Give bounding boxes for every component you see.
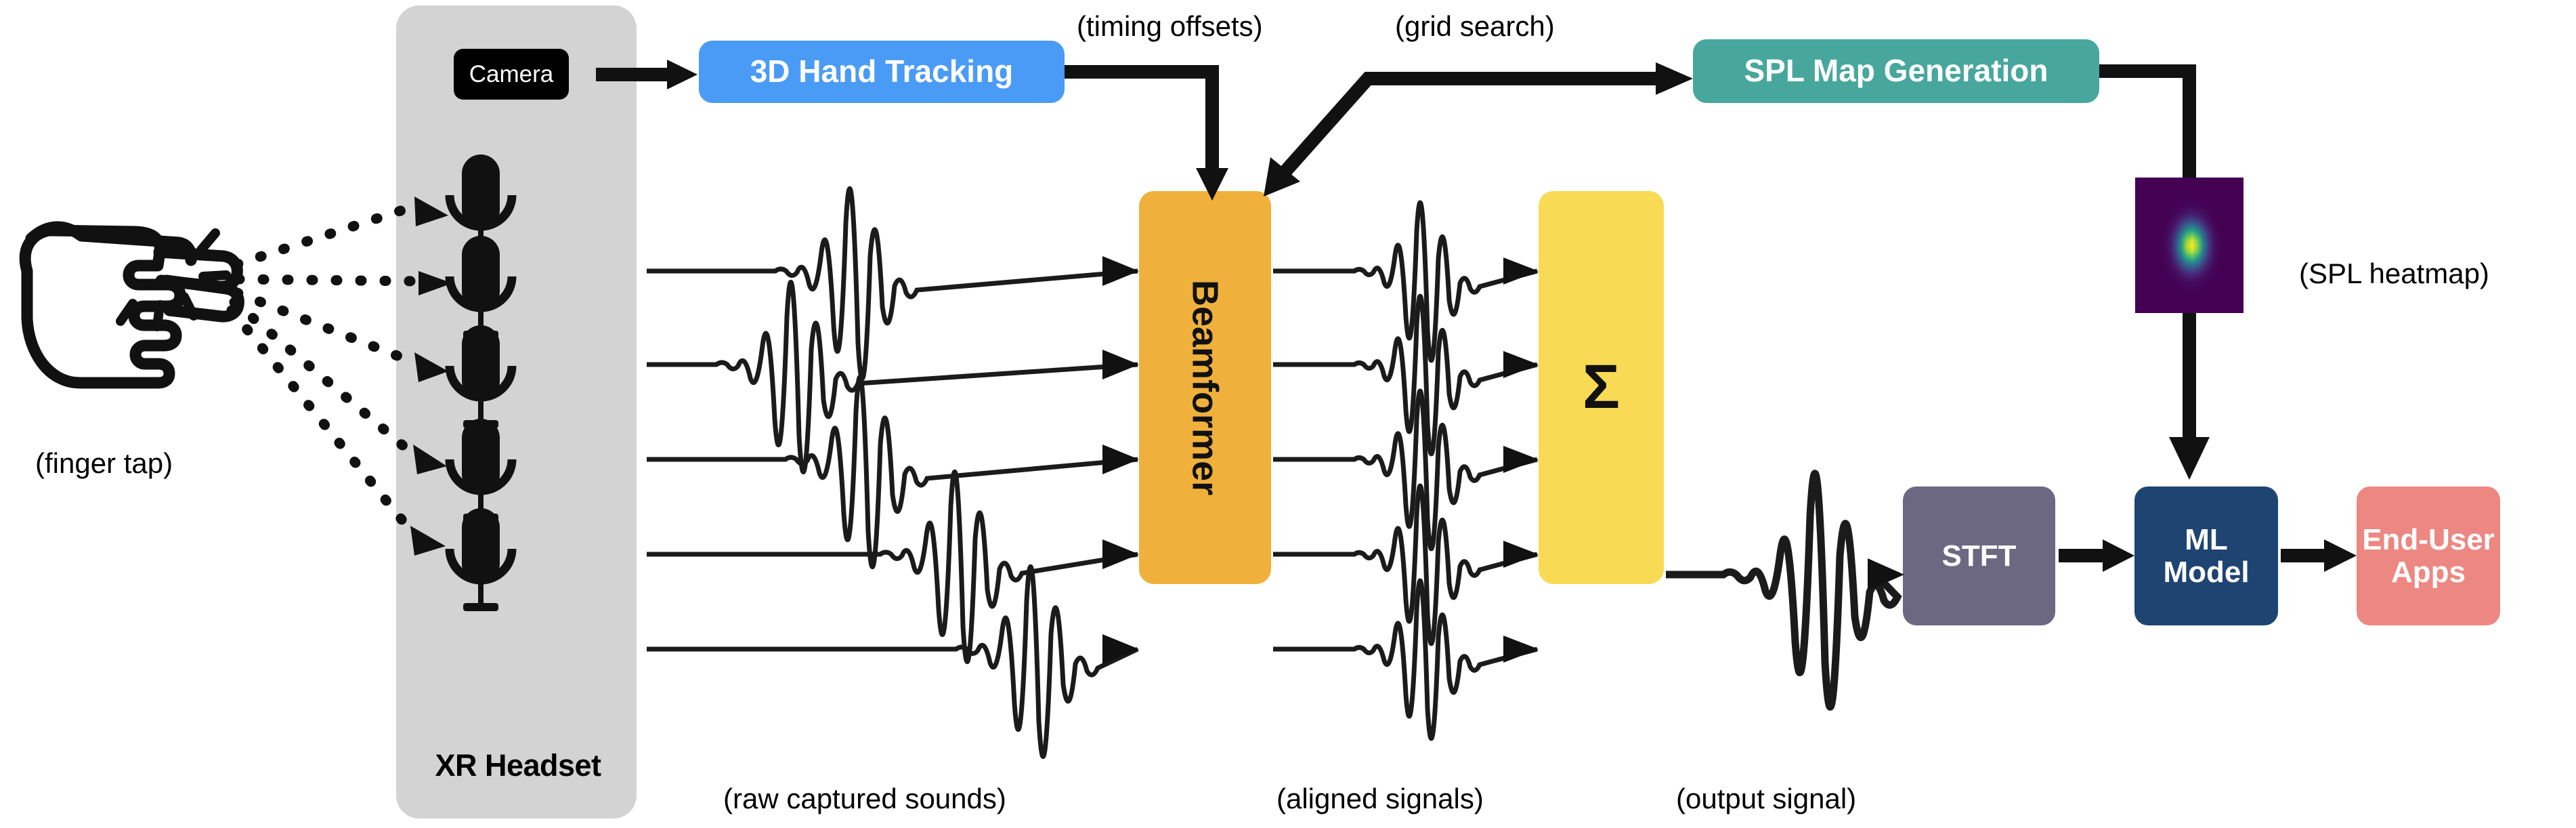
raw-signal-traces (647, 188, 1138, 756)
caption-timing-offsets: (timing offsets) (1077, 10, 1263, 43)
block-3d-hand-tracking[interactable]: 3D Hand Tracking (699, 41, 1065, 103)
arrow-ml-model-to-end-user-apps (2281, 539, 2357, 572)
block-3d-hand-tracking-label: 3D Hand Tracking (750, 55, 1014, 89)
caption-finger-tap: (finger tap) (35, 447, 173, 480)
block-end-user-apps[interactable]: End-User Apps (2357, 487, 2500, 625)
block-spl-map-generation-label: SPL Map Generation (1744, 54, 2048, 88)
block-stft[interactable]: STFT (1903, 487, 2055, 625)
aligned-signal-traces (1273, 203, 1537, 739)
block-ml-model-label-line2: Model (2163, 556, 2249, 589)
arrowhead-grid-search-into-beamformer (1264, 157, 1300, 196)
pointing-hand-icon (25, 227, 238, 383)
spl-heatmap-canvas (2135, 178, 2244, 313)
arrow-timing-offsets (1065, 72, 1212, 168)
caption-output-signal: (output signal) (1676, 783, 1856, 815)
block-beamformer-label: Beamformer (1185, 280, 1224, 495)
raw-signal-arrowheads (1102, 256, 1139, 664)
block-beamformer[interactable]: Beamformer (1139, 191, 1271, 584)
output-signal-trace (1666, 474, 1897, 707)
block-end-user-apps-label-line2: Apps (2391, 556, 2466, 589)
arrow-spl-map-to-heatmap (2099, 71, 2189, 178)
sound-path-dotted-lines (232, 207, 414, 535)
arrowhead-heatmap-to-ml-model (2169, 437, 2210, 480)
block-end-user-apps-label-line1: End-User (2362, 524, 2495, 556)
xr-headset-panel (396, 5, 637, 819)
arrowhead-grid-search (1656, 62, 1693, 95)
arrowhead-output-signal (1868, 558, 1904, 591)
block-summation-label: Σ (1583, 354, 1620, 421)
spl-heatmap-image (2135, 178, 2244, 313)
block-spl-map-generation[interactable]: SPL Map Generation (1693, 39, 2099, 103)
block-stft-label: STFT (1942, 540, 2017, 573)
caption-raw-captured-sounds: (raw captured sounds) (723, 783, 1006, 815)
camera-label-chip: Camera (454, 49, 569, 100)
xr-headset-label: XR Headset (406, 748, 630, 783)
caption-spl-heatmap: (SPL heatmap) (2299, 257, 2489, 290)
tap-spark-icon (121, 233, 226, 327)
block-ml-model-label-line1: ML (2185, 524, 2228, 556)
arrow-stft-to-ml-model (2059, 539, 2134, 572)
block-summation[interactable]: Σ (1539, 191, 1664, 584)
block-ml-model[interactable]: ML Model (2134, 487, 2278, 625)
aligned-signal-arrowheads (1503, 257, 1539, 663)
arrow-grid-search (1280, 79, 1656, 178)
caption-grid-search: (grid search) (1395, 10, 1555, 43)
diagram-canvas: XR Headset Camera 3D Hand Tracking SPL M… (0, 0, 2576, 828)
caption-aligned-signals: (aligned signals) (1276, 783, 1484, 815)
diagram-vector-layer (0, 0, 2576, 828)
